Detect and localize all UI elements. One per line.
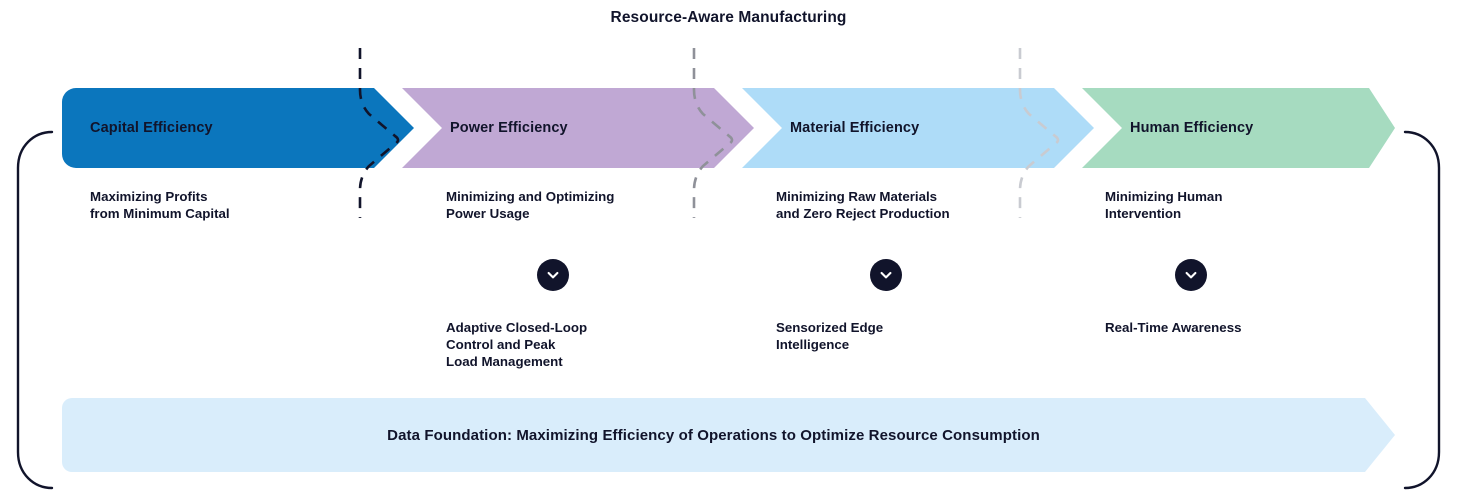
stage-band-capital-efficiency[interactable]: Capital Efficiency — [62, 88, 414, 168]
stage-band-row: Capital Efficiency Power Efficiency Mate… — [62, 88, 1395, 168]
stage-description-human-efficiency: Minimizing Human Intervention — [1105, 188, 1395, 222]
stage-label-capital-efficiency: Capital Efficiency — [62, 120, 213, 136]
stage-label-human-efficiency: Human Efficiency — [1082, 120, 1253, 136]
stage-label-material-efficiency: Material Efficiency — [742, 120, 919, 136]
stage-description-power-efficiency: Minimizing and Optimizing Power Usage — [446, 188, 736, 222]
chevron-down-icon — [1183, 267, 1199, 283]
chevron-down-icon — [878, 267, 894, 283]
data-foundation-label: Data Foundation: Maximizing Efficiency o… — [62, 398, 1395, 472]
stage-description-capital-efficiency: Maximizing Profits from Minimum Capital — [90, 188, 380, 222]
stage-enabler-material-efficiency: Sensorized Edge Intelligence — [776, 319, 1066, 353]
stage-label-power-efficiency: Power Efficiency — [402, 120, 568, 136]
diagram-canvas: Resource-Aware Manufacturing Capital Eff… — [0, 0, 1457, 504]
stage-band-material-efficiency[interactable]: Material Efficiency — [742, 88, 1094, 168]
expand-chevron-button-power-efficiency[interactable] — [537, 259, 569, 291]
stage-enabler-human-efficiency: Real-Time Awareness — [1105, 319, 1395, 336]
data-foundation-banner[interactable]: Data Foundation: Maximizing Efficiency o… — [62, 398, 1395, 472]
stage-band-human-efficiency[interactable]: Human Efficiency — [1082, 88, 1395, 168]
page-title: Resource-Aware Manufacturing — [0, 9, 1457, 27]
stage-description-material-efficiency: Minimizing Raw Materials and Zero Reject… — [776, 188, 1066, 222]
expand-chevron-button-material-efficiency[interactable] — [870, 259, 902, 291]
chevron-down-icon — [545, 267, 561, 283]
stage-band-power-efficiency[interactable]: Power Efficiency — [402, 88, 754, 168]
stage-enabler-power-efficiency: Adaptive Closed-Loop Control and Peak Lo… — [446, 319, 736, 370]
expand-chevron-button-human-efficiency[interactable] — [1175, 259, 1207, 291]
